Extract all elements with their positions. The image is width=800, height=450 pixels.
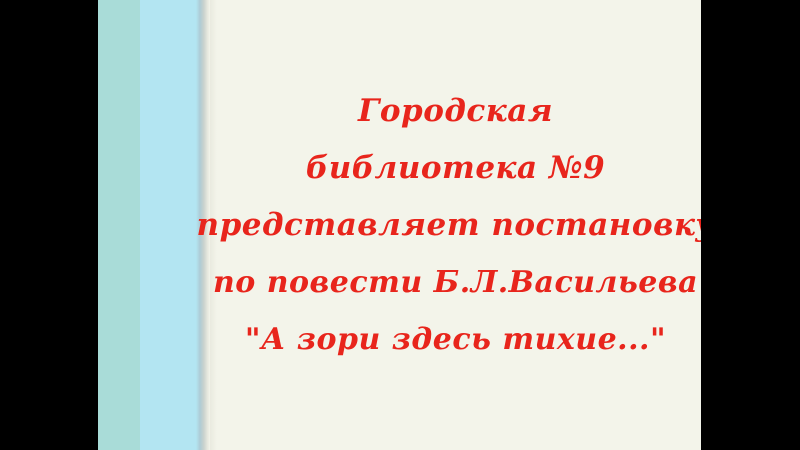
slide-canvas: Городская библиотека №9 представляет пос… [98,0,701,450]
title-line-5: "А зори здесь тихие..." [245,311,666,368]
title-line-1: Городская [358,83,553,140]
letterbox-bar-left [0,0,98,450]
title-line-2: библиотека №9 [306,140,605,197]
title-line-3: представляет постановку [197,197,701,254]
decorative-blue-band [140,0,196,450]
title-text-block: Городская библиотека №9 представляет пос… [210,0,701,450]
decorative-teal-band [98,0,140,450]
video-title-slide: Городская библиотека №9 представляет пос… [0,0,800,450]
letterbox-bar-right [701,0,800,450]
title-line-4: по повести Б.Л.Васильева [213,254,698,311]
